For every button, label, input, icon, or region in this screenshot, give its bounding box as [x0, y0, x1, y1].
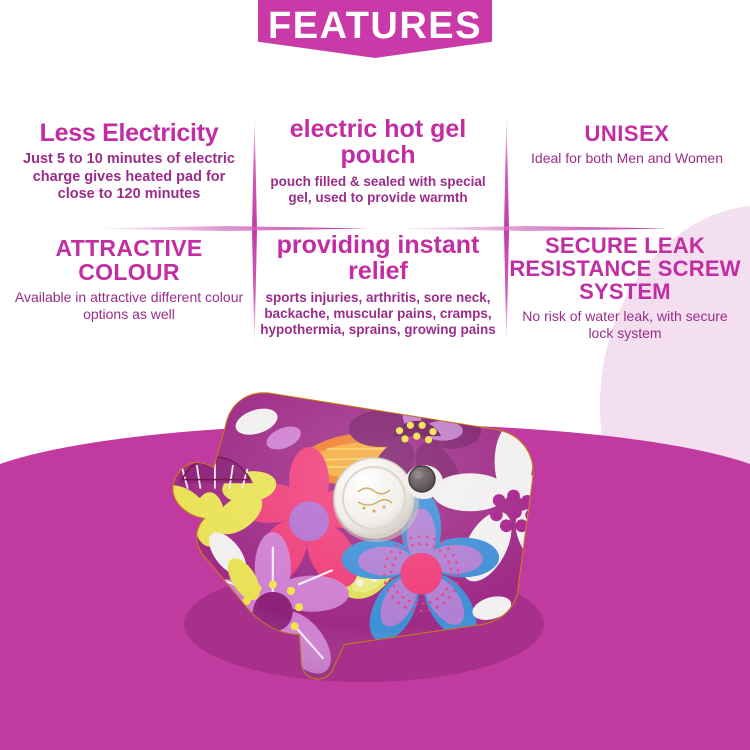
features-grid: Less Electricity Just 5 to 10 minutes of…	[0, 110, 750, 360]
power-plug-port	[405, 465, 443, 499]
feature-cell-less-electricity: Less Electricity Just 5 to 10 minutes of…	[6, 120, 252, 203]
feature-title-providing-instant-relief: providing instant relief	[260, 232, 496, 285]
feature-cell-unisex: UNISEX Ideal for both Men and Women	[504, 122, 750, 167]
feature-title-attractive-colour: ATTRACTIVE COLOUR	[14, 236, 244, 284]
feature-subtitle-attractive-colour: Available in attractive different colour…	[14, 289, 244, 323]
product-image-hot-water-gel-bag	[152, 372, 600, 698]
feature-cell-providing-instant-relief: providing instant relief sports injuries…	[252, 232, 504, 338]
feature-subtitle-electric-hot-gel-pouch: pouch filled & sealed with special gel, …	[260, 174, 496, 206]
feature-title-less-electricity: Less Electricity	[14, 120, 244, 146]
feature-subtitle-unisex: Ideal for both Men and Women	[512, 150, 742, 167]
feature-subtitle-providing-instant-relief: sports injuries, arthritis, sore neck, b…	[260, 290, 496, 339]
features-banner-label: FEATURES	[268, 0, 482, 45]
feature-title-secure-leak-resistance-screw-system: SECURE LEAK RESISTANCE SCREW SYSTEM	[508, 234, 742, 303]
feature-subtitle-less-electricity: Just 5 to 10 minutes of electric charge …	[14, 151, 244, 203]
features-banner: FEATURES	[258, 0, 492, 58]
feature-cell-electric-hot-gel-pouch: electric hot gel pouch pouch filled & se…	[252, 116, 504, 206]
infographic-canvas: FEATURES Less Electricity Just 5 to 10 m…	[0, 0, 750, 750]
feature-title-unisex: UNISEX	[512, 122, 742, 145]
product-illustration	[152, 372, 600, 698]
feature-subtitle-secure-leak-resistance-screw-system: No risk of water leak, with secure lock …	[508, 308, 742, 342]
feature-title-electric-hot-gel-pouch: electric hot gel pouch	[260, 116, 496, 169]
feature-cell-attractive-colour: ATTRACTIVE COLOUR Available in attractiv…	[6, 236, 252, 323]
feature-cell-secure-leak-resistance-screw-system: SECURE LEAK RESISTANCE SCREW SYSTEM No r…	[500, 234, 750, 342]
